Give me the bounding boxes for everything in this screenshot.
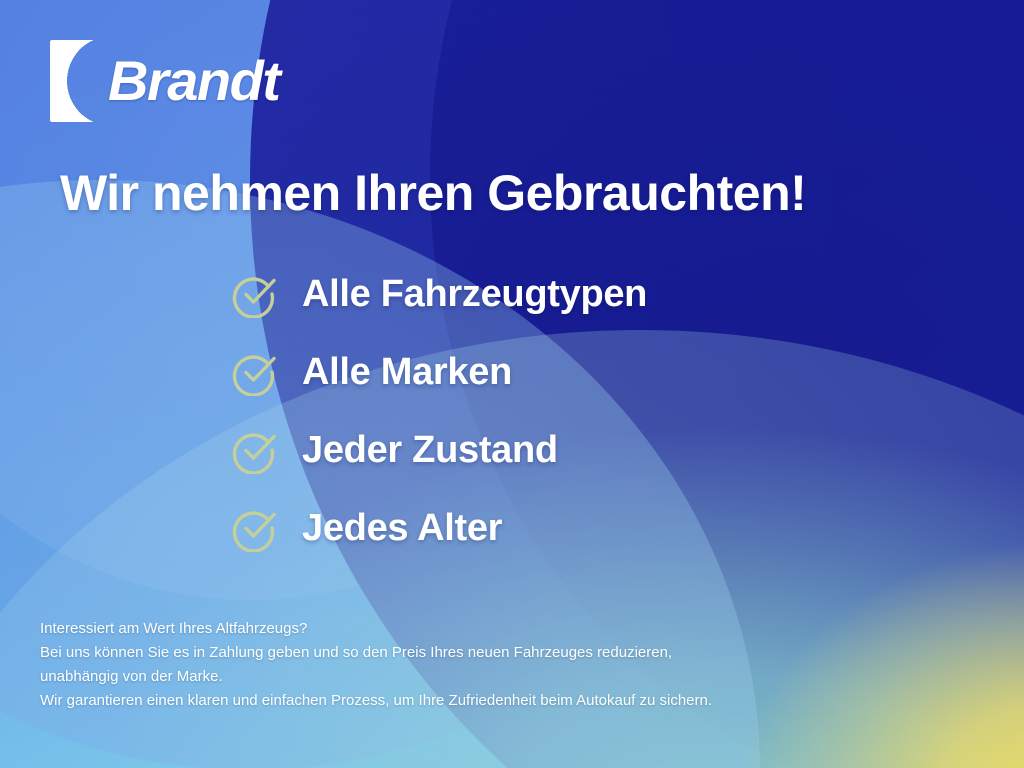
footer-line: Interessiert am Wert Ihres Altfahrzeugs? xyxy=(40,617,712,641)
footer-line: unabhängig von der Marke. xyxy=(40,665,712,689)
brand-name: Brandt xyxy=(108,53,279,109)
check-circle-icon xyxy=(232,504,280,552)
brand-logo[interactable]: Brandt xyxy=(50,40,279,122)
page-title: Wir nehmen Ihren Gebrauchten! xyxy=(60,166,806,221)
list-item: Alle Fahrzeugtypen xyxy=(232,266,647,322)
trade-in-promo-banner: Brandt Wir nehmen Ihren Gebrauchten! All… xyxy=(0,0,1024,768)
list-item: Jedes Alter xyxy=(232,500,647,556)
list-item-label: Alle Marken xyxy=(302,351,512,394)
footer-description: Interessiert am Wert Ihres Altfahrzeugs?… xyxy=(40,617,712,713)
list-item: Jeder Zustand xyxy=(232,422,647,478)
check-circle-icon xyxy=(232,348,280,396)
list-item-label: Jeder Zustand xyxy=(302,429,558,472)
check-circle-icon xyxy=(232,426,280,474)
bracket-crescent-icon xyxy=(50,40,98,122)
list-item-label: Jedes Alter xyxy=(302,507,502,550)
list-item: Alle Marken xyxy=(232,344,647,400)
footer-line: Wir garantieren einen klaren und einfach… xyxy=(40,689,712,713)
feature-list: Alle Fahrzeugtypen Alle Marken Jeder Zus… xyxy=(232,266,647,578)
banner-content: Brandt Wir nehmen Ihren Gebrauchten! All… xyxy=(0,0,1024,768)
footer-line: Bei uns können Sie es in Zahlung geben u… xyxy=(40,641,712,665)
check-circle-icon xyxy=(232,270,280,318)
list-item-label: Alle Fahrzeugtypen xyxy=(302,273,647,316)
